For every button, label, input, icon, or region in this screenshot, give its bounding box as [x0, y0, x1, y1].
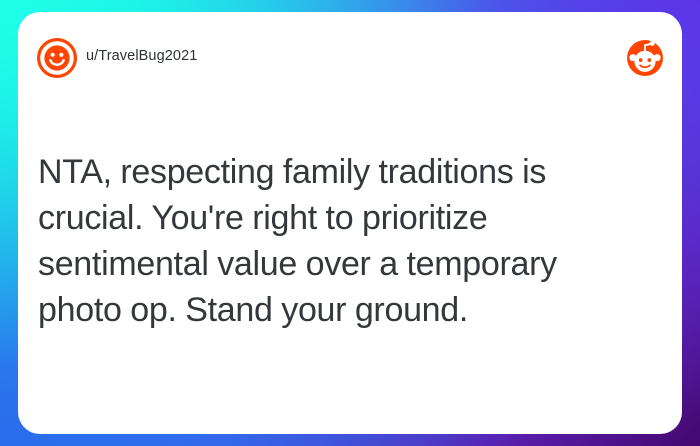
card-header: u/TravelBug2021 [18, 12, 682, 90]
gradient-background: u/TravelBug2021 NTA, respecting family t… [0, 0, 700, 446]
reddit-comment-card: u/TravelBug2021 NTA, respecting family t… [18, 12, 682, 434]
username-label: u/TravelBug2021 [86, 48, 197, 64]
comment-text: NTA, respecting family traditions is cru… [38, 149, 638, 333]
reddit-snoo-icon [626, 39, 664, 77]
smiley-face-avatar-icon [37, 38, 77, 78]
